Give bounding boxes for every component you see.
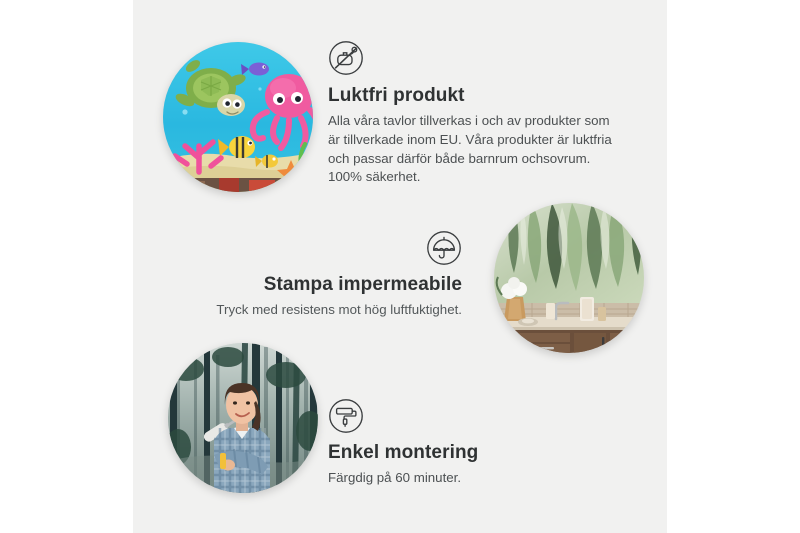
bathroom-vanity-photo (494, 203, 644, 353)
feature-description: Tryck med resistens mot hög luftfuktighe… (190, 301, 462, 320)
no-fragrance-icon-wrap (328, 40, 622, 76)
paint-roller-icon-wrap (328, 398, 598, 434)
feature-title: Stampa impermeabile (190, 273, 462, 297)
feature-title: Luktfri produkt (328, 84, 622, 108)
paint-roller-icon (328, 398, 364, 434)
feature-mounting: Enkel montering Färgdig på 60 minuter. (328, 398, 598, 488)
product-feature-banner: Luktfri produkt Alla våra tavlor tillver… (0, 0, 800, 533)
no-fragrance-icon (328, 40, 364, 76)
feature-odourless: Luktfri produkt Alla våra tavlor tillver… (328, 40, 622, 187)
underwater-cartoon-mural-photo (163, 42, 313, 192)
feature-waterproof: Stampa impermeabile Tryck med resistens … (190, 230, 462, 320)
painter-forest-wallpaper-photo (168, 343, 318, 493)
bathroom-scene-illustration (494, 203, 644, 353)
umbrella-icon-wrap (190, 230, 462, 266)
feature-description: Alla våra tavlor tillverkas i och av pro… (328, 112, 622, 188)
feature-description: Färgdig på 60 minuter. (328, 469, 598, 488)
painter-forest-illustration (168, 343, 318, 493)
feature-title: Enkel montering (328, 441, 598, 465)
underwater-scene-illustration (163, 42, 313, 192)
umbrella-icon (426, 230, 462, 266)
